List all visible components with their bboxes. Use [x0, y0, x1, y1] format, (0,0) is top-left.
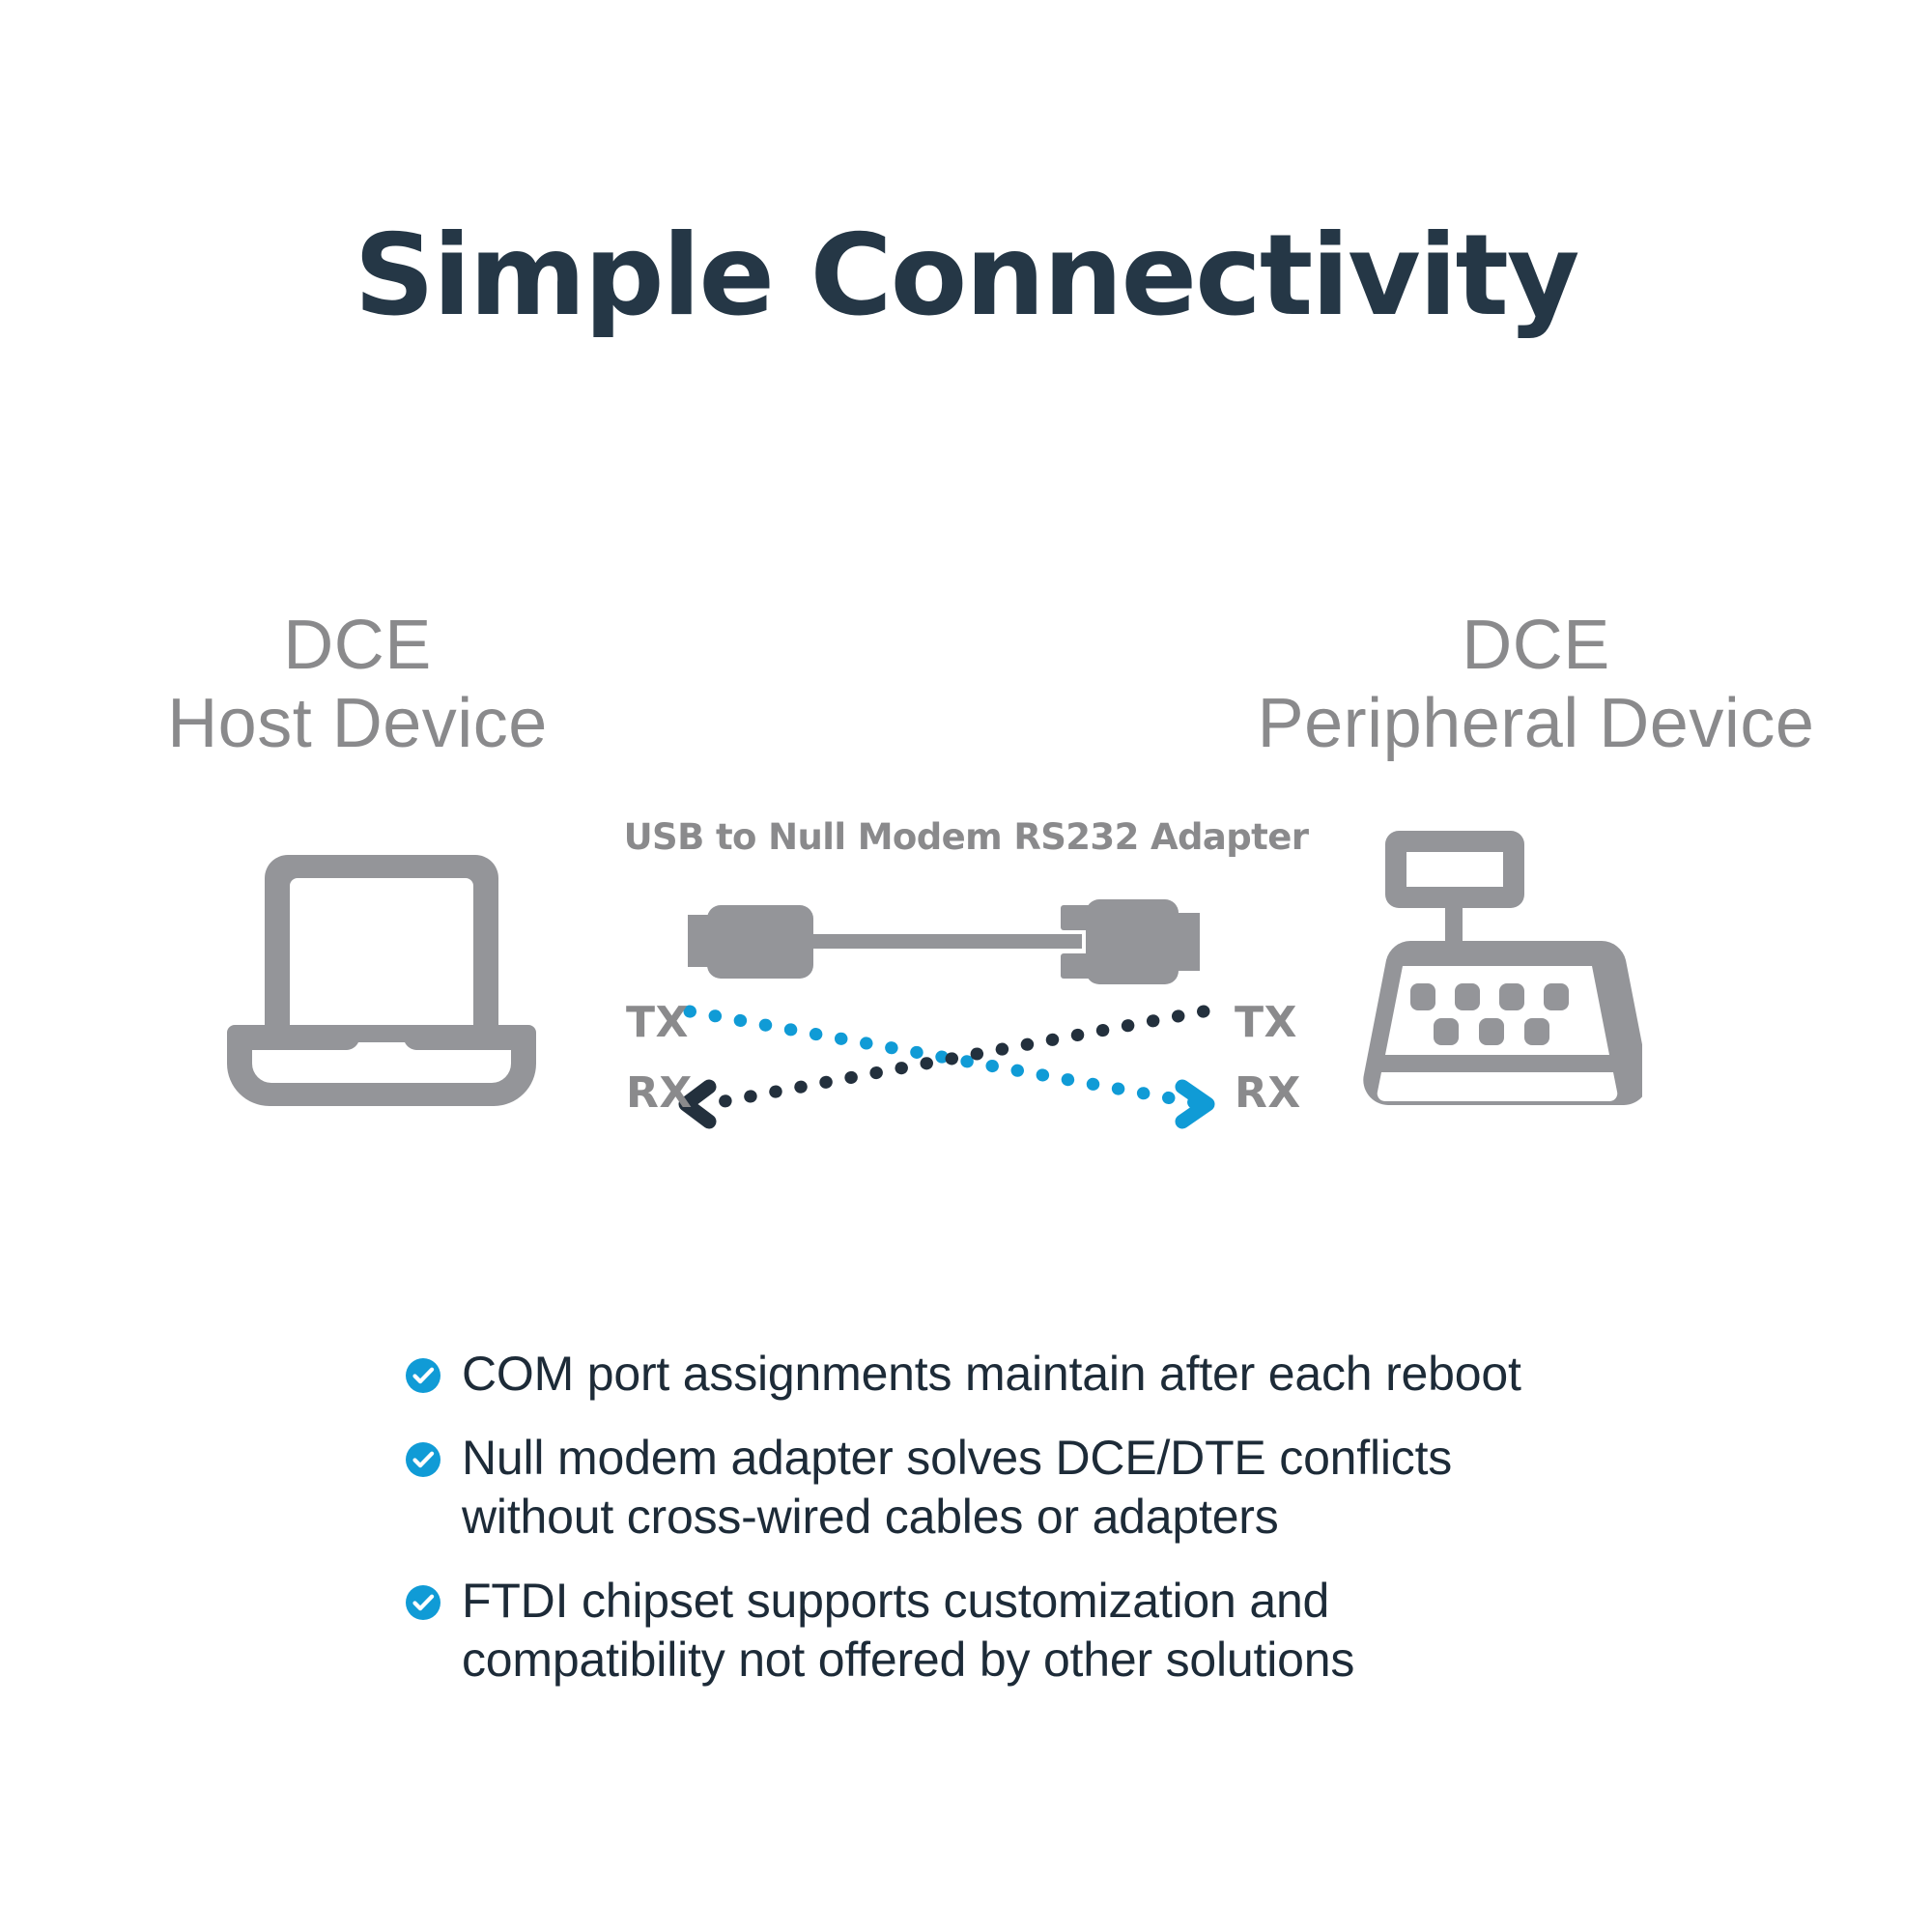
connectivity-diagram: DCE Host Device DCE Peripheral Device US… — [0, 0, 1932, 1217]
signal-cross-lines — [676, 990, 1236, 1135]
list-item-text: COM port assignments maintain after each… — [462, 1345, 1521, 1404]
host-device-label-line1: DCE — [58, 607, 657, 685]
signal-label-tx-right: TX — [1235, 998, 1297, 1047]
list-item: COM port assignments maintain after each… — [406, 1345, 1565, 1404]
signal-label-tx-left: TX — [626, 998, 689, 1047]
peripheral-device-label: DCE Peripheral Device — [1169, 607, 1903, 762]
usb-a-connector-icon — [688, 905, 813, 979]
cash-register-icon — [1352, 819, 1642, 1119]
list-item-line: Null modem adapter solves DCE/DTE confli… — [462, 1429, 1452, 1488]
laptop-icon — [217, 826, 546, 1116]
check-circle-icon — [406, 1442, 440, 1477]
signal-label-rx-right: RX — [1235, 1068, 1301, 1118]
check-circle-icon — [406, 1358, 440, 1393]
list-item-text: FTDI chipset supports customization and … — [462, 1572, 1354, 1690]
check-circle-icon — [406, 1585, 440, 1620]
signal-label-rx-left: RX — [626, 1068, 693, 1118]
list-item-line: COM port assignments maintain after each… — [462, 1345, 1521, 1404]
peripheral-device-label-line1: DCE — [1169, 607, 1903, 685]
list-item: Null modem adapter solves DCE/DTE confli… — [406, 1429, 1565, 1547]
host-device-label-line2: Host Device — [58, 685, 657, 763]
list-item-text: Null modem adapter solves DCE/DTE confli… — [462, 1429, 1452, 1547]
feature-list: COM port assignments maintain after each… — [406, 1345, 1565, 1690]
adapter-label: USB to Null Modem RS232 Adapter — [541, 816, 1391, 858]
tx-in-line — [709, 1011, 1204, 1104]
tx-out-arrow — [1182, 1087, 1207, 1122]
list-item-line: without cross-wired cables or adapters — [462, 1488, 1452, 1547]
list-item: FTDI chipset supports customization and … — [406, 1572, 1565, 1690]
peripheral-device-label-line2: Peripheral Device — [1169, 685, 1903, 763]
list-item-line: FTDI chipset supports customization and — [462, 1572, 1354, 1631]
list-item-line: compatibility not offered by other solut… — [462, 1631, 1354, 1690]
host-device-label: DCE Host Device — [58, 607, 657, 762]
